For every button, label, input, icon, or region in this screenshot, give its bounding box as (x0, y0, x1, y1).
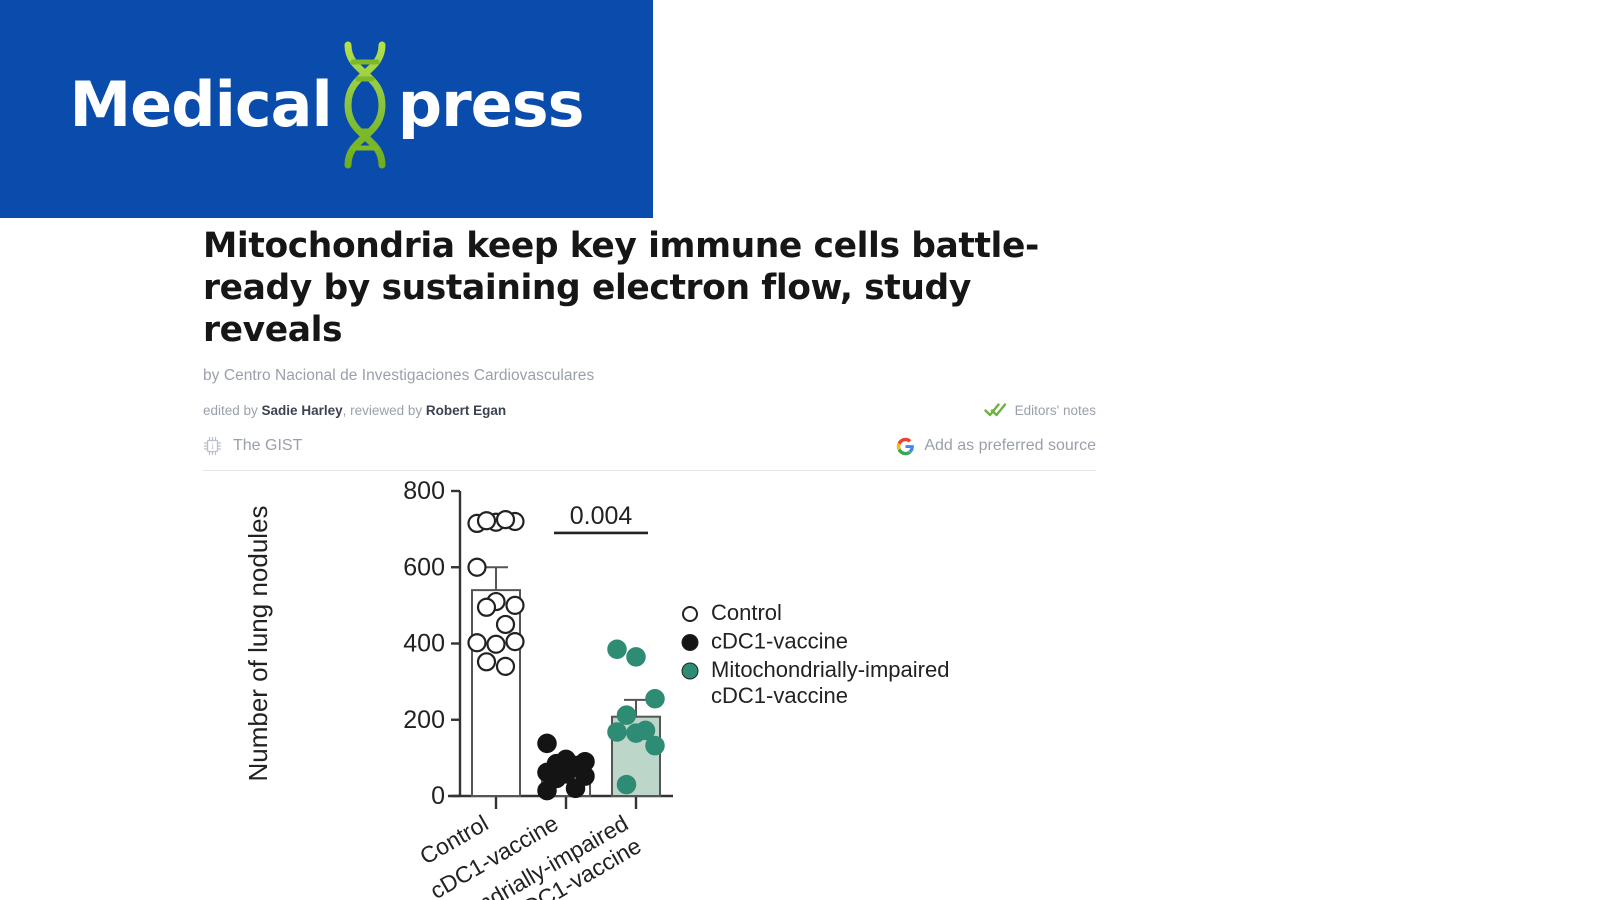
edit-credit: edited by Sadie Harley, reviewed by Robe… (203, 403, 506, 418)
editors-notes-label: Editors' notes (1015, 403, 1096, 418)
data-point (497, 616, 514, 633)
header-divider (203, 470, 1096, 471)
site-banner: Medical (0, 0, 653, 218)
data-point (608, 723, 626, 741)
data-point (497, 658, 514, 675)
pvalue-label: 0.004 (570, 502, 633, 530)
add-preferred-source-button[interactable]: Add as preferred source (896, 437, 1096, 456)
y-axis-title: Number of lung nodules (243, 505, 273, 781)
gist-button[interactable]: i The GIST (203, 436, 302, 456)
article-header: Mitochondria keep key immune cells battl… (203, 225, 1096, 471)
site-logo[interactable]: Medical (69, 41, 583, 169)
legend-label-line2: cDC1-vaccine (711, 683, 848, 708)
data-point (538, 782, 556, 800)
data-point (627, 724, 645, 742)
chip-icon: i (203, 436, 222, 456)
logo-text-press: press (398, 74, 584, 136)
dna-helix-icon (334, 41, 396, 169)
data-point (478, 599, 495, 616)
article-byline: by Centro Nacional de Investigaciones Ca… (203, 367, 1096, 385)
article-figure: 0200400600800Number of lung nodules0.004… (203, 478, 1096, 900)
y-axis-tick-label: 800 (403, 478, 445, 505)
data-point (646, 690, 664, 708)
data-point (627, 648, 645, 666)
legend-marker (682, 635, 698, 651)
legend-marker (682, 663, 698, 679)
reviewed-by-prefix: , reviewed by (343, 403, 426, 418)
double-check-icon (984, 402, 1006, 418)
data-point (478, 512, 495, 529)
data-point (478, 653, 495, 670)
meta-row-credits: edited by Sadie Harley, reviewed by Robe… (203, 402, 1096, 418)
meta-row-tools: i The GIST Add as preferred source (203, 436, 1096, 456)
editor-name[interactable]: Sadie Harley (262, 403, 343, 418)
legend-label: cDC1-vaccine (711, 629, 848, 654)
page-title: Mitochondria keep key immune cells battl… (203, 225, 1096, 351)
add-preferred-source-label: Add as preferred source (924, 437, 1096, 455)
data-point (538, 734, 556, 752)
y-axis-tick-label: 0 (431, 782, 445, 810)
data-point (488, 636, 505, 653)
lung-nodules-chart: 0200400600800Number of lung nodules0.004… (203, 478, 1096, 900)
gist-label: The GIST (233, 437, 302, 455)
data-point (567, 779, 585, 797)
edited-by-prefix: edited by (203, 403, 262, 418)
data-point (618, 776, 636, 794)
data-point (469, 634, 486, 651)
data-point (646, 737, 664, 755)
editors-notes-button[interactable]: Editors' notes (984, 402, 1096, 418)
y-axis-tick-label: 200 (403, 706, 445, 734)
data-point (469, 559, 486, 576)
data-point (507, 597, 524, 614)
reviewer-name[interactable]: Robert Egan (426, 403, 506, 418)
y-axis-tick-label: 400 (403, 630, 445, 658)
legend-label: Mitochondrially-impaired (711, 657, 949, 682)
legend-marker (683, 607, 697, 621)
logo-text-medical: Medical (69, 74, 331, 136)
data-point (497, 511, 514, 528)
y-axis-tick-label: 600 (403, 553, 445, 581)
edit-credit-group: edited by Sadie Harley, reviewed by Robe… (203, 403, 506, 418)
legend-label: Control (711, 600, 782, 625)
svg-text:i: i (211, 441, 214, 451)
data-point (608, 640, 626, 658)
data-point (618, 706, 636, 724)
data-point (507, 633, 524, 650)
google-g-icon (896, 437, 915, 456)
